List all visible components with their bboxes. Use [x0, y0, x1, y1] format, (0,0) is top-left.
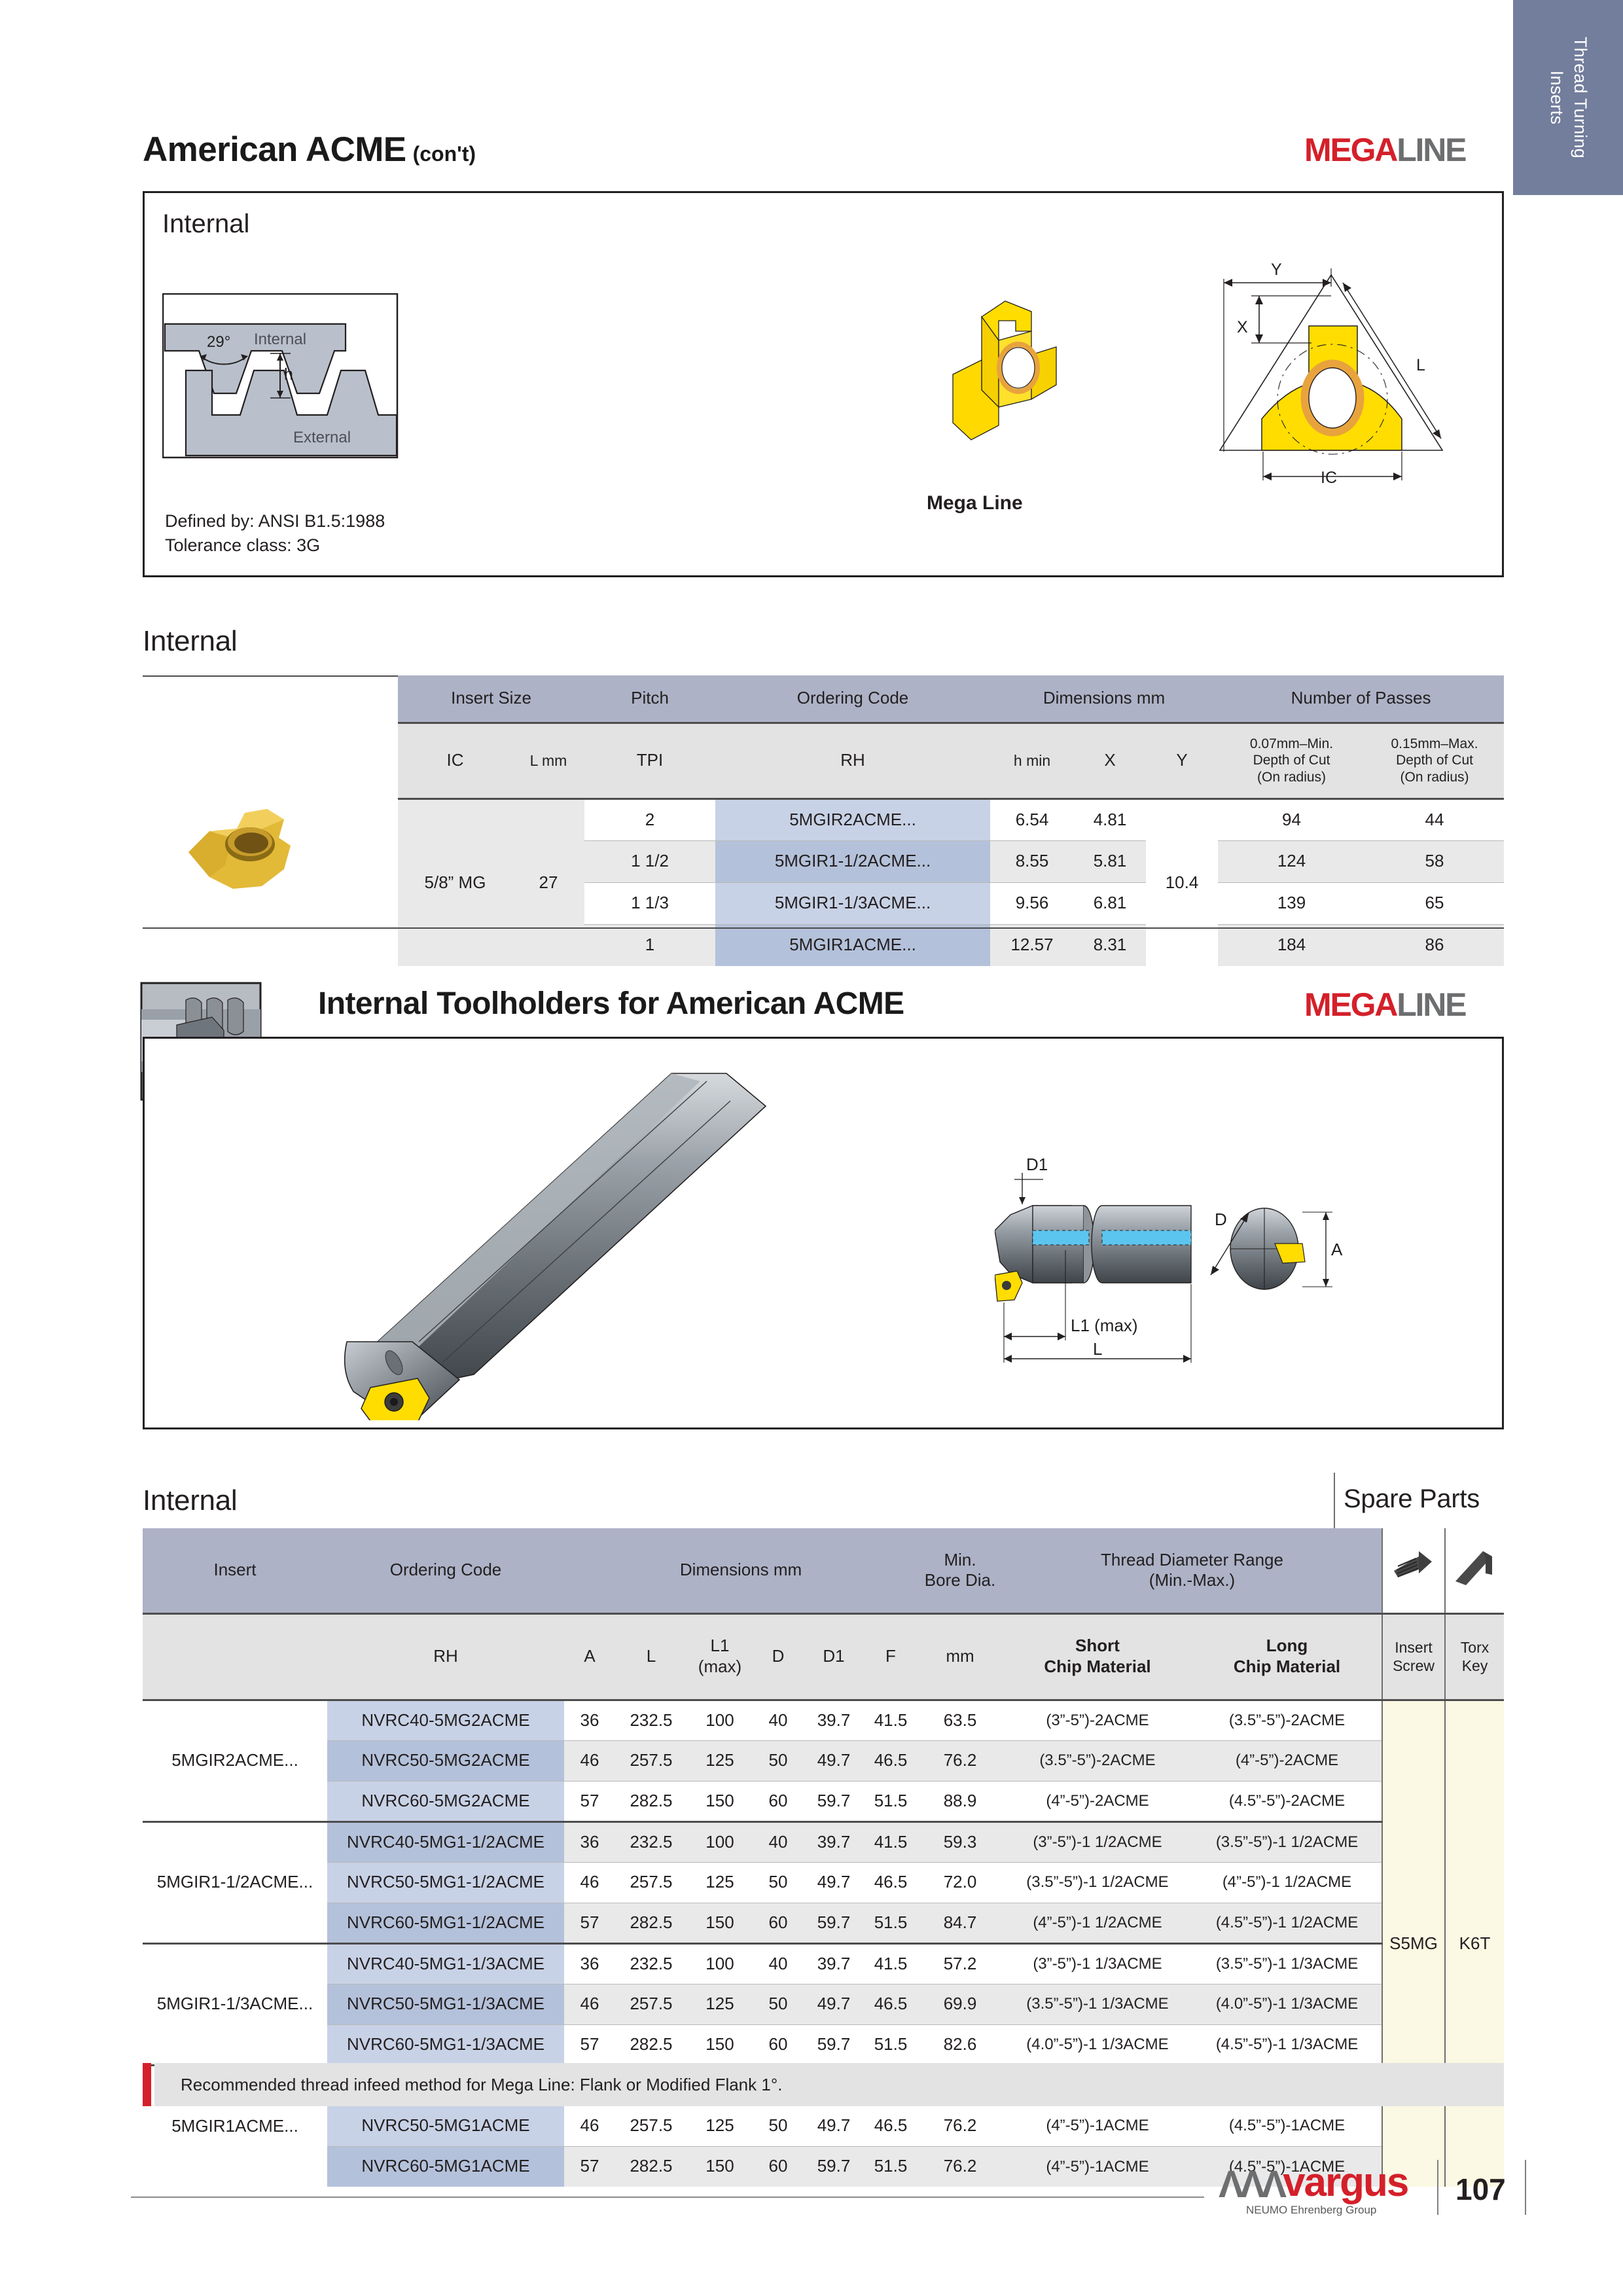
t2-d1: 39.7 — [804, 1943, 864, 1984]
t2-d1: 49.7 — [804, 2106, 864, 2146]
t2-group-insert: Insert — [143, 1528, 327, 1613]
t2-d1: 49.7 — [804, 1984, 864, 2024]
t1-hmin: 8.55 — [990, 840, 1074, 882]
t2-l1: 125 — [687, 1984, 753, 2024]
t2-mm: 88.9 — [918, 1781, 1003, 1821]
t2-l: 282.5 — [615, 1903, 687, 1943]
defined-by-caption: Defined by: ANSI B1.5:1988 Tolerance cla… — [165, 509, 385, 558]
t2-sub-torx-key: Torx Key — [1445, 1613, 1504, 1700]
page-title: American ACME(con't) — [143, 130, 476, 170]
footnote-banner: Recommended thread infeed method for Meg… — [154, 2063, 1504, 2106]
t2-group-min-bore: Min. Bore Dia. — [918, 1528, 1003, 1613]
t2-f: 51.5 — [864, 2146, 918, 2187]
page-title-suffix: (con't) — [413, 142, 476, 166]
t2-l: 257.5 — [615, 2106, 687, 2146]
t2-sub-short-chip: Short Chip Material — [1003, 1613, 1192, 1700]
t2-insert-code: 5MGIR1-1/3ACME... — [143, 1943, 327, 2065]
t2-ordering-code: NVRC50-5MG2ACME — [327, 1740, 564, 1781]
t2-l: 257.5 — [615, 1740, 687, 1781]
t2-a: 36 — [564, 1700, 615, 1740]
t2-short-chip: (3.5”-5”)-1 1/3ACME — [1003, 1984, 1192, 2024]
t2-l1: 100 — [687, 1700, 753, 1740]
t2-ordering-code: NVRC60-5MG1-1/3ACME — [327, 2024, 564, 2065]
table-row: NVRC60-5MG2ACME57282.51506059.751.588.9(… — [143, 1781, 1504, 1821]
side-tab-thread-turning-inserts: Thread Turning Inserts — [1513, 0, 1623, 195]
t2-short-chip: (3”-5”)-1 1/3ACME — [1003, 1943, 1192, 1984]
catalog-page: Thread Turning Inserts American ACME(con… — [0, 0, 1623, 2296]
t1-lmm-value: 27 — [512, 798, 584, 966]
dim-x-label: X — [1237, 318, 1248, 336]
t1-group-passes: Number of Passes — [1218, 675, 1504, 723]
t1-y-value: 10.4 — [1146, 798, 1218, 966]
t1-x: 4.81 — [1074, 798, 1146, 840]
t2-f: 46.5 — [864, 1740, 918, 1781]
t2-f: 46.5 — [864, 2106, 918, 2146]
t1-sub-x: X — [1074, 723, 1146, 798]
t1-sub-tpi: TPI — [584, 723, 715, 798]
t1-group-ordering-code: Ordering Code — [715, 675, 990, 723]
t2-f: 51.5 — [864, 1903, 918, 1943]
megaline-logo-2: MEGALINE — [1304, 986, 1465, 1024]
t2-d: 40 — [753, 1821, 804, 1862]
t2-ordering-code: NVRC60-5MG1-1/2ACME — [327, 1903, 564, 1943]
t2-l1: 150 — [687, 2146, 753, 2187]
t2-long-chip: (4.0”-5”)-1 1/3ACME — [1192, 1984, 1382, 2024]
side-tab-line1: Thread Turning — [1568, 37, 1592, 158]
spare-parts-heading: Spare Parts — [1344, 1484, 1480, 1514]
t2-sub-mm: mm — [918, 1613, 1003, 1700]
t2-d: 50 — [753, 1740, 804, 1781]
t2-f: 41.5 — [864, 1821, 918, 1862]
table-row: 5MGIR1-1/3ACME...NVRC40-5MG1-1/3ACME3623… — [143, 1943, 1504, 1984]
megaline-logo-mega: MEGA — [1304, 132, 1397, 168]
table-row: NVRC50-5MG1ACME46257.51255049.746.576.2(… — [143, 2106, 1504, 2146]
t2-ordering-code: NVRC40-5MG1-1/2ACME — [327, 1821, 564, 1862]
t1-group-dimensions: Dimensions mm — [990, 675, 1218, 723]
t2-a: 46 — [564, 1862, 615, 1903]
t2-ordering-code: NVRC50-5MG1ACME — [327, 2106, 564, 2146]
t2-sub-d: D — [753, 1613, 804, 1700]
insert-screw-icon — [1382, 1528, 1445, 1613]
t2-f: 46.5 — [864, 1862, 918, 1903]
t1-max-passes: 65 — [1365, 882, 1504, 924]
footnote-accent-bar — [143, 2063, 151, 2106]
t2-f: 51.5 — [864, 1781, 918, 1821]
t2-long-chip: (4.5”-5”)-2ACME — [1192, 1781, 1382, 1821]
dim-d1-label: D1 — [1026, 1155, 1048, 1174]
t1-code: 5MGIR1-1/2ACME... — [715, 840, 990, 882]
thread-profile-diagram: 29° Internal External h — [162, 293, 411, 490]
t2-l: 282.5 — [615, 2146, 687, 2187]
t1-group-pitch: Pitch — [584, 675, 715, 723]
t2-long-chip: (3.5”-5”)-2ACME — [1192, 1700, 1382, 1740]
megaline-logo: MEGALINE — [1304, 131, 1465, 169]
panel-label-internal: Internal — [162, 209, 249, 239]
dim-a-label: A — [1331, 1240, 1343, 1259]
t2-short-chip: (4”-5”)-1 1/2ACME — [1003, 1903, 1192, 1943]
t2-d: 60 — [753, 2146, 804, 2187]
internal-inserts-table: Insert Size Pitch Ordering Code Dimensio… — [398, 675, 1504, 966]
t1-x: 8.31 — [1074, 924, 1146, 966]
t2-l1: 125 — [687, 1740, 753, 1781]
footnote-text: Recommended thread infeed method for Meg… — [154, 2075, 782, 2095]
t2-l1: 125 — [687, 1862, 753, 1903]
dim-l-label: L — [1416, 356, 1425, 374]
t2-d: 50 — [753, 1984, 804, 2024]
megaline-logo-line: LINE — [1397, 132, 1465, 168]
t2-d1: 49.7 — [804, 1740, 864, 1781]
thread-internal-label: Internal — [254, 331, 306, 348]
t1-code: 5MGIR1-1/3ACME... — [715, 882, 990, 924]
t2-mm: 59.3 — [918, 1821, 1003, 1862]
t2-mm: 76.2 — [918, 2106, 1003, 2146]
dim-ic-label: IC — [1321, 469, 1337, 487]
t2-mm: 82.6 — [918, 2024, 1003, 2065]
t2-l: 232.5 — [615, 1943, 687, 1984]
t1-max-passes: 58 — [1365, 840, 1504, 882]
t2-sub-f: F — [864, 1613, 918, 1700]
t1-min-passes: 94 — [1218, 798, 1365, 840]
vargus-group-text: NEUMO Ehrenberg Group — [1246, 2204, 1376, 2217]
t1-hmin: 9.56 — [990, 882, 1074, 924]
table-row: NVRC50-5MG2ACME46257.51255049.746.576.2(… — [143, 1740, 1504, 1781]
t2-mm: 76.2 — [918, 2146, 1003, 2187]
t2-f: 51.5 — [864, 2024, 918, 2065]
t2-short-chip: (3.5”-5”)-1 1/2ACME — [1003, 1862, 1192, 1903]
t2-a: 46 — [564, 1984, 615, 2024]
t2-sub-rh: RH — [327, 1613, 564, 1700]
t1-tpi: 1 1/2 — [584, 840, 715, 882]
t2-insert-code: 5MGIR2ACME... — [143, 1700, 327, 1821]
t1-min-passes: 124 — [1218, 840, 1365, 882]
t1-hmin: 12.57 — [990, 924, 1074, 966]
t2-f: 41.5 — [864, 1700, 918, 1740]
table-row: 5/8” MG 27 2 5MGIR2ACME... 6.54 4.81 10.… — [398, 798, 1504, 840]
t1-min-passes: 184 — [1218, 924, 1365, 966]
t2-mm: 57.2 — [918, 1943, 1003, 1984]
t2-long-chip: (4.5”-5”)-1 1/3ACME — [1192, 2024, 1382, 2065]
t2-d: 60 — [753, 2024, 804, 2065]
t2-a: 46 — [564, 1740, 615, 1781]
t1-group-insert-size: Insert Size — [398, 675, 584, 723]
table-row: NVRC60-5MG1-1/3ACME57282.51506059.751.58… — [143, 2024, 1504, 2065]
thread-external-label: External — [293, 429, 351, 446]
t2-d: 60 — [753, 1903, 804, 1943]
t2-l1: 150 — [687, 1781, 753, 1821]
table-row: 5MGIR1-1/2ACME...NVRC40-5MG1-1/2ACME3623… — [143, 1821, 1504, 1862]
t2-f: 46.5 — [864, 1984, 918, 2024]
t2-d1: 59.7 — [804, 2024, 864, 2065]
t2-long-chip: (4.5”-5”)-1ACME — [1192, 2106, 1382, 2146]
t2-group-dimensions: Dimensions mm — [564, 1528, 918, 1613]
t2-long-chip: (4”-5”)-1 1/2ACME — [1192, 1862, 1382, 1903]
t2-f: 41.5 — [864, 1943, 918, 1984]
t2-l1: 150 — [687, 1903, 753, 1943]
t2-sub-l: L — [615, 1613, 687, 1700]
t1-sub-rh: RH — [715, 723, 990, 798]
thread-h-label: h — [284, 365, 293, 384]
vargus-wordmark: vargus — [1283, 2165, 1408, 2200]
t1-tpi: 1 1/3 — [584, 882, 715, 924]
t2-ordering-code: NVRC40-5MG1-1/3ACME — [327, 1943, 564, 1984]
t2-group-thread-range: Thread Diameter Range (Min.-Max.) — [1003, 1528, 1382, 1613]
t1-tpi: 2 — [584, 798, 715, 840]
t2-l: 282.5 — [615, 1781, 687, 1821]
t2-mm: 76.2 — [918, 1740, 1003, 1781]
t2-sub-a: A — [564, 1613, 615, 1700]
t2-mm: 63.5 — [918, 1700, 1003, 1740]
t2-d1: 59.7 — [804, 1903, 864, 1943]
megaline-logo-line: LINE — [1397, 986, 1465, 1023]
t2-d1: 59.7 — [804, 1781, 864, 1821]
t2-d1: 59.7 — [804, 2146, 864, 2187]
t2-long-chip: (4”-5”)-2ACME — [1192, 1740, 1382, 1781]
t2-d: 60 — [753, 1781, 804, 1821]
table-row: NVRC50-5MG1-1/3ACME46257.51255049.746.56… — [143, 1984, 1504, 2024]
t2-sub-l1: L1 (max) — [687, 1613, 753, 1700]
t2-d: 40 — [753, 1700, 804, 1740]
t2-a: 57 — [564, 1903, 615, 1943]
t1-code: 5MGIR1ACME... — [715, 924, 990, 966]
vargus-logo: ΛΛΛ vargus NEUMO Ehrenberg Group — [1219, 2165, 1408, 2200]
table-row: NVRC60-5MG1-1/2ACME57282.51506059.751.58… — [143, 1903, 1504, 1943]
t2-ordering-code: NVRC60-5MG1ACME — [327, 2146, 564, 2187]
t2-ordering-code: NVRC40-5MG2ACME — [327, 1700, 564, 1740]
t2-d: 50 — [753, 2106, 804, 2146]
t2-mm: 84.7 — [918, 1903, 1003, 1943]
t2-group-ordering-code: Ordering Code — [327, 1528, 564, 1613]
t2-short-chip: (3”-5”)-1 1/2ACME — [1003, 1821, 1192, 1862]
t1-code: 5MGIR2ACME... — [715, 798, 990, 840]
megaline-logo-mega: MEGA — [1304, 986, 1397, 1023]
t2-l: 257.5 — [615, 1862, 687, 1903]
page-number: 107 — [1455, 2172, 1506, 2207]
dim-y-label: Y — [1271, 260, 1282, 279]
t2-sub-d1: D1 — [804, 1613, 864, 1700]
t2-a: 46 — [564, 2106, 615, 2146]
t1-sub-lmm: L mm — [512, 723, 584, 798]
dim-d-label: D — [1215, 1210, 1227, 1229]
t2-ordering-code: NVRC60-5MG2ACME — [327, 1781, 564, 1821]
t2-torx-key-value: K6T — [1445, 1700, 1504, 2187]
t1-sub-hmin: h min — [990, 723, 1074, 798]
t2-insert-screw-value: S5MG — [1382, 1700, 1445, 2187]
t1-x: 6.81 — [1074, 882, 1146, 924]
t1-sub-ic: IC — [398, 723, 512, 798]
t2-l: 257.5 — [615, 1984, 687, 2024]
t2-long-chip: (3.5”-5”)-1 1/3ACME — [1192, 1943, 1382, 1984]
t2-a: 36 — [564, 1821, 615, 1862]
t2-d: 40 — [753, 1943, 804, 1984]
t1-max-passes: 86 — [1365, 924, 1504, 966]
t2-a: 57 — [564, 2146, 615, 2187]
torx-key-icon — [1445, 1528, 1504, 1613]
t2-short-chip: (3”-5”)-2ACME — [1003, 1700, 1192, 1740]
t2-l1: 125 — [687, 2106, 753, 2146]
t2-ordering-code: NVRC50-5MG1-1/2ACME — [327, 1862, 564, 1903]
t2-a: 57 — [564, 1781, 615, 1821]
t2-mm: 72.0 — [918, 1862, 1003, 1903]
section2-title: Internal Toolholders for American ACME — [318, 986, 904, 1022]
table1-heading: Internal — [143, 625, 237, 658]
t2-short-chip: (4.0”-5”)-1 1/3ACME — [1003, 2024, 1192, 2065]
t2-short-chip: (4”-5”)-1ACME — [1003, 2106, 1192, 2146]
insert-dimension-diagram: Y X L IC — [1186, 255, 1474, 504]
t2-d1: 39.7 — [804, 1821, 864, 1862]
insert-photo — [169, 789, 326, 914]
table-row: 5MGIR2ACME...NVRC40-5MG2ACME36232.510040… — [143, 1700, 1504, 1740]
insert-figure-caption: Mega Line — [927, 492, 1023, 514]
t2-l: 232.5 — [615, 1700, 687, 1740]
t2-short-chip: (4”-5”)-1ACME — [1003, 2146, 1192, 2187]
t1-max-passes: 44 — [1365, 798, 1504, 840]
t2-sub-insert-screw: Insert Screw — [1382, 1613, 1445, 1700]
t1-sub-passes-max: 0.15mm–Max. Depth of Cut (On radius) — [1365, 723, 1504, 798]
t2-l: 282.5 — [615, 2024, 687, 2065]
table2-heading: Internal — [143, 1484, 237, 1517]
mega-line-insert-3d — [948, 288, 1085, 452]
t2-long-chip: (4.5”-5”)-1 1/2ACME — [1192, 1903, 1382, 1943]
t2-d1: 49.7 — [804, 1862, 864, 1903]
side-tab-line2: Inserts — [1544, 71, 1568, 124]
t1-min-passes: 139 — [1218, 882, 1365, 924]
t2-a: 36 — [564, 1943, 615, 1984]
toolholder-3d-illustration — [308, 1067, 857, 1420]
t2-long-chip: (3.5”-5”)-1 1/2ACME — [1192, 1821, 1382, 1862]
t1-hmin: 6.54 — [990, 798, 1074, 840]
t1-tpi: 1 — [584, 924, 715, 966]
t2-insert-code: 5MGIR1-1/2ACME... — [143, 1821, 327, 1943]
t2-l1: 150 — [687, 2024, 753, 2065]
t2-l1: 100 — [687, 1821, 753, 1862]
vargus-mark-icon: ΛΛΛ — [1219, 2170, 1283, 2200]
t2-short-chip: (4”-5”)-2ACME — [1003, 1781, 1192, 1821]
t1-sub-passes-min: 0.07mm–Min. Depth of Cut (On radius) — [1218, 723, 1365, 798]
thread-angle-label: 29° — [207, 333, 230, 351]
t2-d1: 39.7 — [804, 1700, 864, 1740]
toolholder-dimension-diagram: D1 L1 (max) L D A — [995, 1152, 1361, 1368]
t2-d: 50 — [753, 1862, 804, 1903]
t2-a: 57 — [564, 2024, 615, 2065]
t2-mm: 69.9 — [918, 1984, 1003, 2024]
t1-sub-y: Y — [1146, 723, 1218, 798]
t1-x: 5.81 — [1074, 840, 1146, 882]
dim-l-label-2: L — [1093, 1339, 1102, 1359]
table-row: NVRC50-5MG1-1/2ACME46257.51255049.746.57… — [143, 1862, 1504, 1903]
t1-insert-size-value: 5/8” MG — [398, 798, 512, 966]
dim-l1-label: L1 (max) — [1071, 1316, 1138, 1335]
t2-l: 232.5 — [615, 1821, 687, 1862]
t2-l1: 100 — [687, 1943, 753, 1984]
t2-short-chip: (3.5”-5”)-2ACME — [1003, 1740, 1192, 1781]
t2-sub-long-chip: Long Chip Material — [1192, 1613, 1382, 1700]
t2-ordering-code: NVRC50-5MG1-1/3ACME — [327, 1984, 564, 2024]
